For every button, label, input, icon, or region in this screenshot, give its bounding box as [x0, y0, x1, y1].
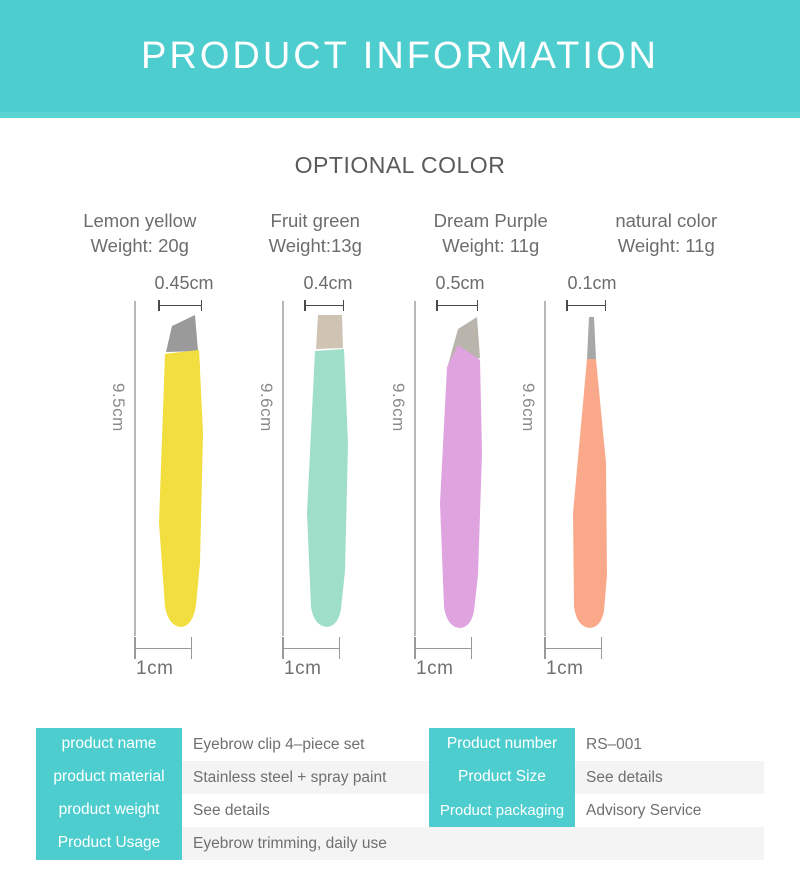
base-label-2: 1cm	[416, 658, 453, 680]
height-label-3: 9.6cm	[518, 383, 538, 432]
width-label-0: 0.45cm	[96, 273, 256, 294]
tweezer-svg-1	[298, 313, 358, 631]
tweezer-natural-color	[560, 313, 622, 636]
color-name-3: natural color	[579, 209, 755, 234]
height-guide-0	[134, 301, 136, 636]
height-guide-2	[414, 301, 416, 636]
tweezer-svg-2	[428, 313, 490, 631]
color-label-3: natural color Weight: 11g	[579, 209, 755, 259]
product-figure-lemon-yellow: 0.45cm 9.5cm 1cm	[96, 273, 256, 693]
tweezer-lemon-yellow	[151, 313, 213, 636]
width-label-3: 0.1cm	[504, 273, 664, 294]
tweezer-fruit-green	[298, 313, 358, 636]
tweezer-dream-purple	[428, 313, 490, 636]
spec-key-product-size: Product Size	[429, 761, 575, 794]
height-guide-3	[544, 301, 546, 636]
width-arrow-0	[158, 300, 202, 310]
tweezer-diagram: 0.45cm 9.5cm 1cm 0.4cm 9.6cm	[0, 273, 800, 693]
spec-val-product-usage: Eyebrow trimming, daily use	[182, 827, 429, 860]
color-label-row: Lemon yellow Weight: 20g Fruit green Wei…	[0, 209, 800, 259]
spec-key-product-material: product material	[36, 761, 182, 794]
color-weight-2: Weight: 11g	[403, 234, 579, 259]
header-underline	[0, 112, 800, 118]
height-guide-1	[282, 301, 284, 636]
spec-val-product-number: RS–001	[575, 728, 764, 761]
width-arrow-2	[436, 300, 478, 310]
spec-key-product-number: Product number	[429, 728, 575, 761]
spec-val-product-size: See details	[575, 761, 764, 794]
color-weight-3: Weight: 11g	[579, 234, 755, 259]
spec-key-product-packaging: Product packaging	[429, 794, 575, 827]
spec-blank-val	[575, 827, 764, 860]
color-name-1: Fruit green	[228, 209, 404, 234]
spec-table: product name Eyebrow clip 4–piece set Pr…	[36, 728, 764, 860]
spec-key-product-name: product name	[36, 728, 182, 761]
height-label-0: 9.5cm	[108, 383, 128, 432]
page-title: PRODUCT INFORMATION	[141, 35, 659, 78]
color-label-1: Fruit green Weight:13g	[228, 209, 404, 259]
base-label-0: 1cm	[136, 658, 173, 680]
spec-val-product-name: Eyebrow clip 4–piece set	[182, 728, 429, 761]
product-figure-natural-color: 0.1cm 9.6cm 1cm	[504, 273, 664, 693]
spec-key-product-usage: Product Usage	[36, 827, 182, 860]
base-label-3: 1cm	[546, 658, 583, 680]
color-weight-0: Weight: 20g	[52, 234, 228, 259]
color-weight-1: Weight:13g	[228, 234, 404, 259]
section-title: OPTIONAL COLOR	[0, 152, 800, 179]
spec-val-product-weight: See details	[182, 794, 429, 827]
color-name-2: Dream Purple	[403, 209, 579, 234]
tweezer-svg-0	[151, 313, 213, 631]
base-label-1: 1cm	[284, 658, 321, 680]
spec-blank-key	[429, 827, 575, 860]
color-label-2: Dream Purple Weight: 11g	[403, 209, 579, 259]
height-label-2: 9.6cm	[388, 383, 408, 432]
color-label-0: Lemon yellow Weight: 20g	[52, 209, 228, 259]
width-arrow-3	[566, 300, 606, 310]
width-arrow-1	[304, 300, 344, 310]
tweezer-svg-3	[560, 313, 622, 631]
spec-key-product-weight: product weight	[36, 794, 182, 827]
height-label-1: 9.6cm	[256, 383, 276, 432]
spec-val-product-packaging: Advisory Service	[575, 794, 764, 827]
page-header: PRODUCT INFORMATION	[0, 0, 800, 112]
spec-val-product-material: Stainless steel + spray paint	[182, 761, 429, 794]
color-name-0: Lemon yellow	[52, 209, 228, 234]
